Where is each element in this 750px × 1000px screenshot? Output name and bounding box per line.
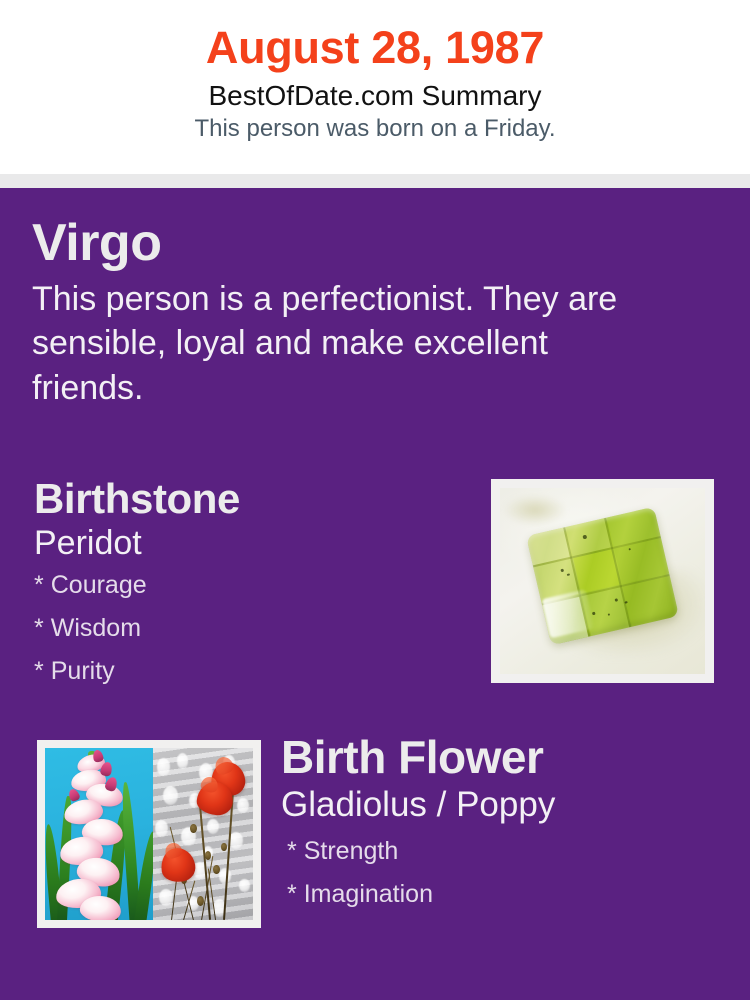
bokeh-light [239, 879, 250, 893]
summary-card: August 28, 1987 BestOfDate.com Summary T… [0, 0, 750, 1000]
birthstone-photo-frame [491, 479, 714, 683]
bokeh-light [157, 758, 170, 775]
birthstone-trait-list: *Courage *Wisdom *Purity [34, 573, 464, 684]
bokeh-light [229, 832, 243, 849]
list-item: *Wisdom [34, 616, 464, 641]
header: August 28, 1987 BestOfDate.com Summary T… [0, 0, 750, 174]
bokeh-light [177, 753, 188, 768]
gem-inclusion [628, 547, 631, 550]
list-item: *Purity [34, 659, 464, 684]
site-summary-label: BestOfDate.com Summary [0, 80, 750, 111]
poppy-seedhead [221, 843, 226, 851]
gladiolus-photo-half [45, 748, 153, 920]
bokeh-light [237, 798, 249, 813]
asterisk-bullet-icon: * [34, 614, 44, 642]
gladiolus-bud [91, 749, 103, 763]
poppy-seedhead [190, 824, 196, 833]
birthstone-name: Peridot [34, 524, 464, 563]
gem-inclusion [567, 573, 570, 576]
header-divider [0, 174, 750, 188]
gem-inclusion [625, 601, 628, 604]
birth-flower-trait-list: *Strength *Imagination [287, 839, 741, 907]
asterisk-bullet-icon: * [34, 657, 44, 685]
trait-label: Wisdom [51, 614, 141, 642]
birthstone-section: Birthstone Peridot *Courage *Wisdom *Pur… [34, 476, 464, 702]
zodiac-description: This person is a perfectionist. They are… [32, 277, 632, 410]
zodiac-sign-name: Virgo [32, 215, 672, 271]
bokeh-light [159, 889, 173, 906]
birthstone-heading: Birthstone [34, 476, 464, 522]
photo-smudge [504, 495, 566, 525]
trait-label: Purity [51, 657, 115, 685]
born-day-text: This person was born on a Friday. [0, 116, 750, 143]
bokeh-light [207, 819, 219, 834]
list-item: *Strength [287, 839, 741, 864]
gem-inclusion [582, 534, 587, 539]
birthstone-photo [500, 488, 705, 674]
gem-inclusion [592, 612, 595, 615]
content-panel: Virgo This person is a perfectionist. Th… [0, 188, 750, 1000]
birth-flower-name: Gladiolus / Poppy [281, 785, 741, 825]
bokeh-light [155, 820, 168, 837]
trait-label: Strength [304, 837, 399, 865]
gem-inclusion [561, 568, 564, 571]
zodiac-section: Virgo This person is a perfectionist. Th… [32, 215, 672, 410]
poppy-seedhead [213, 865, 219, 874]
list-item: *Imagination [287, 882, 741, 907]
list-item: *Courage [34, 573, 464, 598]
page-title: August 28, 1987 [0, 24, 750, 73]
poppy-photo-half [153, 748, 253, 920]
birth-flower-section: Birth Flower Gladiolus / Poppy *Strength… [281, 733, 741, 925]
bokeh-light [163, 786, 178, 805]
asterisk-bullet-icon: * [34, 571, 44, 599]
asterisk-bullet-icon: * [287, 880, 297, 908]
birth-flower-photo-frame [37, 740, 261, 928]
birth-flower-photo [45, 748, 253, 920]
asterisk-bullet-icon: * [287, 837, 297, 865]
trait-label: Courage [51, 571, 147, 599]
gem-inclusion [607, 613, 609, 615]
poppy-seedhead [205, 851, 211, 860]
birth-flower-heading: Birth Flower [281, 733, 741, 783]
trait-label: Imagination [304, 880, 433, 908]
